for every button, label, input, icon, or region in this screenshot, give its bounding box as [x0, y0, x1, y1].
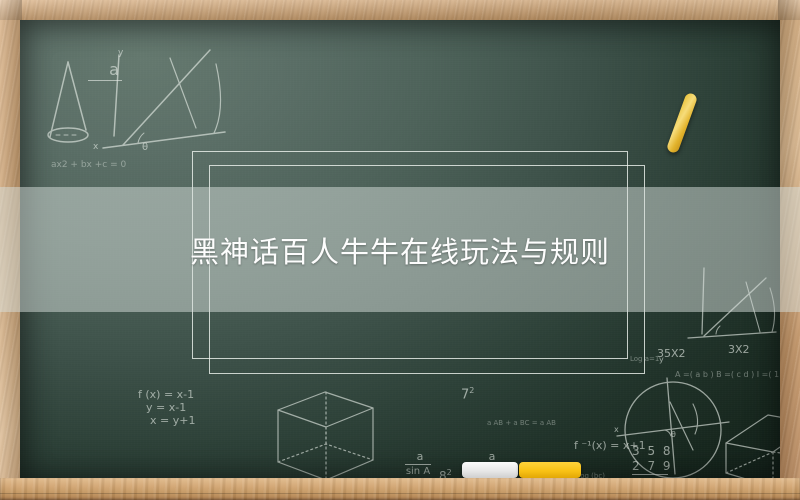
- ledge-lip: [0, 493, 800, 494]
- yellow-chalk-stick-ledge: [519, 462, 581, 478]
- frame-top-highlight: [0, 0, 800, 20]
- white-chalk-stick-ledge: [462, 462, 518, 478]
- page-title: 黑神话百人牛牛在线玩法与规则: [0, 187, 800, 312]
- chalkboard-banner: y x θ a ax2 + bx +c = 0 f (x) = x-1 y = …: [0, 0, 800, 500]
- chalk-ledge: [0, 478, 800, 500]
